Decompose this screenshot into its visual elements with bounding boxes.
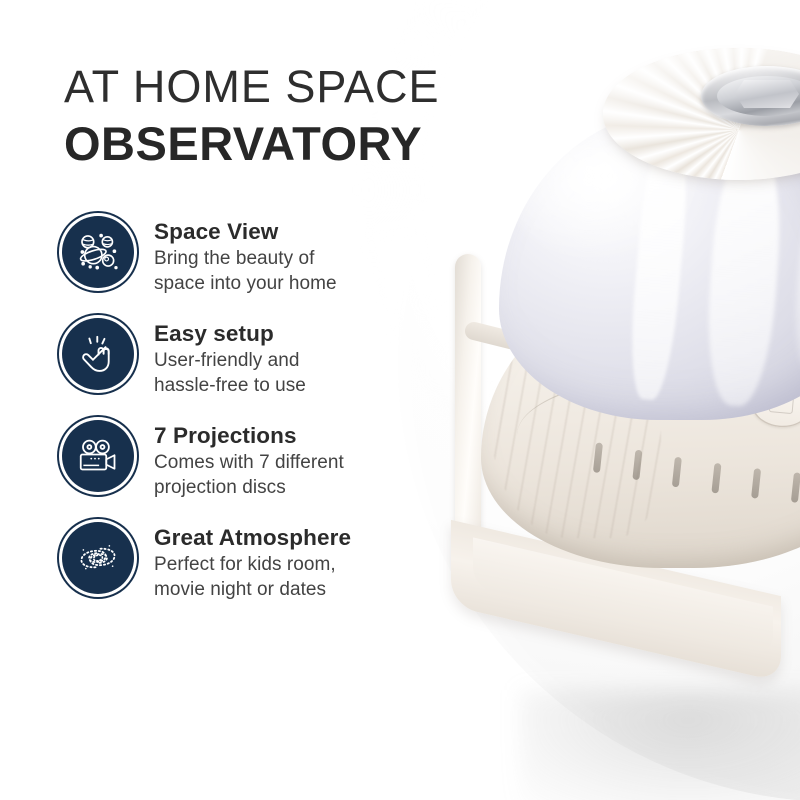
- feature-desc-line-1: Perfect for kids room,: [154, 552, 351, 577]
- feature-text: 7 Projections Comes with 7 different pro…: [154, 420, 344, 500]
- feature-text: Space View Bring the beauty of space int…: [154, 216, 337, 296]
- movie-camera-icon: [62, 420, 134, 492]
- galaxy-icon: [62, 522, 134, 594]
- feature-description: User-friendly and hassle-free to use: [154, 348, 306, 398]
- feature-desc-line-2: space into your home: [154, 271, 337, 296]
- feature-item-atmosphere: Great Atmosphere Perfect for kids room, …: [62, 522, 472, 602]
- feature-title: 7 Projections: [154, 422, 344, 449]
- title-line-2: OBSERVATORY: [64, 116, 484, 172]
- feature-text: Great Atmosphere Perfect for kids room, …: [154, 522, 351, 602]
- feature-desc-line-1: User-friendly and: [154, 348, 306, 373]
- feature-description: Comes with 7 different projection discs: [154, 450, 344, 500]
- feature-description: Bring the beauty of space into your home: [154, 246, 337, 296]
- star-projector-device: [455, 48, 800, 708]
- page-title: AT HOME SPACE OBSERVATORY: [64, 60, 484, 172]
- feature-list: Space View Bring the beauty of space int…: [62, 216, 472, 624]
- feature-text: Easy setup User-friendly and hassle-free…: [154, 318, 306, 398]
- dome-gloss-right: [789, 168, 800, 371]
- feature-item-easy-setup: Easy setup User-friendly and hassle-free…: [62, 318, 472, 398]
- lens-hex-bezel: [735, 80, 799, 108]
- feature-description: Perfect for kids room, movie night or da…: [154, 552, 351, 602]
- feature-desc-line-2: hassle-free to use: [154, 373, 306, 398]
- info-panel: AT HOME SPACE OBSERVATORY: [0, 0, 470, 800]
- feature-title: Great Atmosphere: [154, 524, 351, 551]
- feature-desc-line-1: Bring the beauty of: [154, 246, 337, 271]
- feature-item-projections: 7 Projections Comes with 7 different pro…: [62, 420, 472, 500]
- feature-title: Easy setup: [154, 320, 306, 347]
- title-line-1: AT HOME SPACE: [64, 60, 484, 114]
- tap-hand-icon: [62, 318, 134, 390]
- feature-item-space-view: Space View Bring the beauty of space int…: [62, 216, 472, 296]
- feature-desc-line-2: movie night or dates: [154, 577, 351, 602]
- feature-title: Space View: [154, 218, 337, 245]
- feature-desc-line-2: projection discs: [154, 475, 344, 500]
- dome-gloss-center: [702, 142, 786, 408]
- feature-desc-line-1: Comes with 7 different: [154, 450, 344, 475]
- planets-icon: [62, 216, 134, 288]
